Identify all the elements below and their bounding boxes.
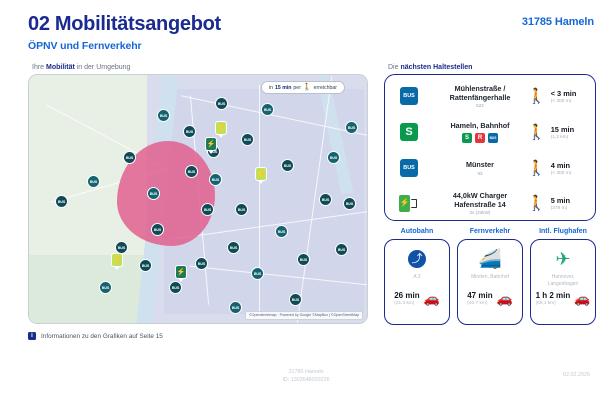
stop-name: Mühlenstraße /Rattenfängerhalle — [435, 84, 525, 102]
footer-location: 31785 Hameln — [0, 368, 612, 376]
plug-icon — [411, 199, 417, 208]
stop-walk-time: 🚶15 min(1,2 km) — [527, 125, 595, 140]
map-pin-bus[interactable]: BUS — [87, 175, 100, 188]
bolt-icon: ⚡ — [177, 269, 186, 276]
stop-line-badges: SRBUS — [435, 133, 525, 143]
map-pin-ev-charger[interactable]: ⚡ — [175, 265, 187, 279]
page-header: 02 Mobilitätsangebot ÖPNV und Fernverkeh… — [28, 12, 594, 56]
card-sublabel: A 2 — [385, 274, 449, 287]
map-pin-bus[interactable]: BUS — [55, 195, 68, 208]
walking-person-icon: 🚶 — [527, 161, 546, 176]
bus-badge-icon: BUS — [400, 159, 418, 177]
mobility-map[interactable]: BUSBUSBUSBUSBUSBUSBUSBUSBUSBUSBUSBUSBUSB… — [28, 74, 368, 324]
bus-badge-icon: BUS — [400, 87, 418, 105]
stop-row[interactable]: SHameln, BahnhofSRBUS🚶15 min(1,2 km) — [385, 114, 595, 150]
map-pin-bus[interactable]: BUS — [169, 281, 182, 294]
stops-section-label: Die nächsten Haltestellen — [388, 64, 472, 71]
map-pin-bus[interactable]: BUS — [157, 109, 170, 122]
card-time-wrap: 1 h 2 min(68,1 km) — [536, 291, 571, 306]
stop-name: 44,0kW Charger Hafenstraße 14 — [435, 191, 525, 209]
card-distance: (68,1 km) — [536, 301, 571, 306]
stop-icon-cell: ⚡ — [385, 194, 433, 212]
card-sublabel: Minden, Bahnhof — [458, 274, 522, 287]
card-duration-row: 1 h 2 min(68,1 km)🚗 — [531, 291, 595, 306]
map-pin-ev-charger[interactable]: ⚡ — [205, 137, 217, 151]
walking-person-icon: 🚶 — [527, 196, 546, 211]
card-duration-row: 26 min(21,3 km)🚗 — [385, 291, 449, 306]
stop-sublabel: 522 — [435, 103, 525, 108]
map-road — [259, 85, 260, 315]
map-attribution: ©Openstreetmap · Powered by Google ©MapB… — [245, 311, 363, 320]
ev-charger-icon: ⚡ — [399, 194, 419, 212]
page-title: 02 Mobilitätsangebot — [28, 12, 594, 36]
map-green-area-2 — [29, 255, 149, 324]
bolt-icon: ⚡ — [400, 199, 410, 207]
stop-distance: (< 300 m) — [551, 99, 577, 104]
footer-id: ID: 1303548020226 — [0, 376, 612, 384]
map-pin-bus[interactable]: BUS — [289, 293, 302, 306]
line-badge-s: S — [462, 133, 472, 143]
card-time-wrap: 47 min(40,7 km) — [467, 291, 492, 306]
bolt-icon: ⚡ — [257, 171, 266, 178]
card-icon-cell: ✈ — [531, 244, 595, 274]
stop-walk-time: 🚶5 min(379 m) — [527, 196, 595, 211]
stop-info: Hameln, BahnhofSRBUS — [433, 121, 527, 143]
car-icon: 🚗 — [424, 292, 440, 305]
map-pin-bus[interactable]: BUS — [215, 97, 228, 110]
page-subtitle: ÖPNV und Fernverkehr — [28, 40, 594, 52]
stop-icon-cell: S — [385, 123, 433, 141]
stop-distance: (379 m) — [551, 206, 570, 211]
map-pin-bus[interactable]: BUS — [209, 173, 222, 186]
nearest-stops-panel: BUSMühlenstraße /Rattenfängerhalle522🚶< … — [384, 74, 596, 221]
map-pin-bus[interactable]: BUS — [235, 203, 248, 216]
info-icon: i — [28, 332, 36, 340]
card-time: 1 h 2 min — [536, 291, 571, 300]
stop-time: 15 min — [551, 125, 574, 134]
map-pin-bus[interactable]: BUS — [99, 281, 112, 294]
map-label-suffix: in der Umgebung — [75, 64, 131, 71]
charger-body: ⚡ — [399, 195, 410, 212]
map-pin-bus[interactable]: BUS — [297, 253, 310, 266]
stop-icon-cell: BUS — [385, 159, 433, 177]
car-icon: 🚗 — [497, 292, 513, 305]
stop-time: 4 min — [551, 161, 572, 170]
map-pin-bus[interactable]: BUS — [185, 165, 198, 178]
map-pin-bus[interactable]: BUS — [183, 125, 196, 138]
map-footnote: i Informationen zu den Grafiken auf Seit… — [28, 332, 163, 340]
map-pin-bus[interactable]: BUS — [227, 241, 240, 254]
legend-mid: per — [293, 85, 301, 91]
map-pin-bus[interactable]: BUS — [345, 121, 358, 134]
map-pin-bus[interactable]: BUS — [319, 193, 332, 206]
card-time: 26 min — [394, 291, 419, 300]
stop-time: < 3 min — [551, 89, 577, 98]
map-canvas — [29, 75, 367, 323]
map-section-label: Ihre Mobilität in der Umgebung — [32, 64, 130, 71]
stop-time-wrap: < 3 min(< 300 m) — [551, 89, 577, 104]
autobahn-sign-icon: ⤴ — [407, 249, 427, 269]
map-pin-bus[interactable]: BUS — [201, 203, 214, 216]
map-label-bold: Mobilität — [46, 64, 75, 71]
map-pin-ev-charger[interactable]: ⚡ — [255, 167, 267, 181]
walking-person-icon: 🚶 — [527, 125, 546, 140]
stop-name: Hameln, Bahnhof — [435, 121, 525, 130]
stop-time: 5 min — [551, 196, 570, 205]
map-pin-bus[interactable]: BUS — [123, 151, 136, 164]
card-sublabel: Hannover,Langenhagen — [531, 274, 595, 287]
card-distance: (40,7 km) — [467, 301, 492, 306]
stop-distance: (< 300 m) — [551, 171, 572, 176]
card-heading: Autobahn — [384, 228, 450, 235]
stop-time-wrap: 15 min(1,2 km) — [551, 125, 574, 140]
map-pin-bus[interactable]: BUS — [195, 257, 208, 270]
map-pin-bus[interactable]: BUS — [327, 151, 340, 164]
card-icon-cell: ⤴ — [385, 244, 449, 274]
stop-time-wrap: 5 min(379 m) — [551, 196, 570, 211]
travel-card[interactable]: ⤴A 226 min(21,3 km)🚗 — [384, 239, 450, 325]
map-label-prefix: Ihre — [32, 64, 46, 71]
legend-time: 15 min — [275, 85, 291, 91]
train-icon: 🚄 — [478, 250, 502, 269]
stop-distance: (1,2 km) — [551, 135, 574, 140]
travel-card[interactable]: ✈Hannover,Langenhagen1 h 2 min(68,1 km)🚗 — [530, 239, 596, 325]
map-pin-bus[interactable]: BUS — [151, 223, 164, 236]
card-time-wrap: 26 min(21,3 km) — [394, 291, 419, 306]
legend-suffix: erreichbar — [314, 85, 337, 91]
card-distance: (21,3 km) — [394, 301, 419, 306]
line-badge-re: R — [475, 133, 485, 143]
stop-info: Mühlenstraße /Rattenfängerhalle522 — [433, 84, 527, 109]
stop-row[interactable]: BUSMühlenstraße /Rattenfängerhalle522🚶< … — [385, 78, 595, 114]
bolt-icon: ⚡ — [207, 141, 216, 148]
map-pin-bus[interactable]: BUS — [229, 301, 242, 314]
legend-prefix: in — [269, 85, 273, 91]
report-page: 02 Mobilitätsangebot ÖPNV und Fernverkeh… — [0, 0, 612, 400]
map-pin-bus[interactable]: BUS — [251, 267, 264, 280]
stop-name: Münster — [435, 160, 525, 169]
card-duration-row: 47 min(40,7 km)🚗 — [458, 291, 522, 306]
stop-info: Münster93 — [433, 160, 527, 176]
map-pin-bus[interactable]: BUS — [335, 243, 348, 256]
s-bahn-badge-icon: S — [400, 123, 418, 141]
stops-label-prefix: Die — [388, 64, 400, 71]
travel-card[interactable]: 🚄Minden, Bahnhof47 min(40,7 km)🚗 — [457, 239, 523, 325]
stops-label-bold: nächsten Haltestellen — [400, 64, 472, 71]
map-pin-bus[interactable]: BUS — [139, 259, 152, 272]
map-pin-bus[interactable]: BUS — [343, 197, 356, 210]
stop-walk-time: 🚶4 min(< 300 m) — [527, 161, 595, 176]
map-pin-ev-charger[interactable]: ⚡ — [111, 253, 123, 267]
walking-person-icon: 🚶 — [303, 84, 312, 91]
stop-sublabel: 93 — [435, 171, 525, 176]
stop-walk-time: 🚶< 3 min(< 300 m) — [527, 89, 595, 104]
bolt-icon: ⚡ — [113, 257, 122, 264]
map-pin-bus[interactable]: BUS — [275, 225, 288, 238]
header-location: 31785 Hameln — [522, 16, 594, 28]
stop-icon-cell: BUS — [385, 87, 433, 105]
card-heading: Fernverkehr — [457, 228, 523, 235]
map-pin-bus[interactable]: BUS — [147, 187, 160, 200]
plane-icon: ✈ — [555, 250, 570, 268]
bolt-icon: ⚡ — [217, 125, 226, 132]
map-legend: in 15 min per 🚶 erreichbar — [261, 81, 345, 94]
walking-person-icon: 🚶 — [527, 89, 546, 104]
footer-center: 31785 Hameln ID: 1303548020226 — [0, 368, 612, 384]
card-time: 47 min — [467, 291, 492, 300]
map-pin-bus[interactable]: BUS — [241, 133, 254, 146]
stop-time-wrap: 4 min(< 300 m) — [551, 161, 572, 176]
map-pin-ev-charger[interactable]: ⚡ — [215, 121, 227, 135]
map-pin-bus[interactable]: BUS — [261, 103, 274, 116]
map-footnote-text: Informationen zu den Grafiken auf Seite … — [41, 333, 163, 340]
stop-row[interactable]: ⚡44,0kW Charger Hafenstraße 142x (22kW)🚶… — [385, 185, 595, 221]
stop-row[interactable]: BUSMünster93🚶4 min(< 300 m) — [385, 150, 595, 186]
card-icon-cell: 🚄 — [458, 244, 522, 274]
line-badge-bus: BUS — [488, 133, 498, 143]
footer-date: 02.02.2026 — [563, 372, 590, 378]
stop-info: 44,0kW Charger Hafenstraße 142x (22kW) — [433, 191, 527, 216]
stop-sublabel: 2x (22kW) — [435, 210, 525, 215]
car-icon: 🚗 — [574, 292, 590, 305]
map-pin-bus[interactable]: BUS — [281, 159, 294, 172]
card-heading: Intl. Flughafen — [530, 228, 596, 235]
